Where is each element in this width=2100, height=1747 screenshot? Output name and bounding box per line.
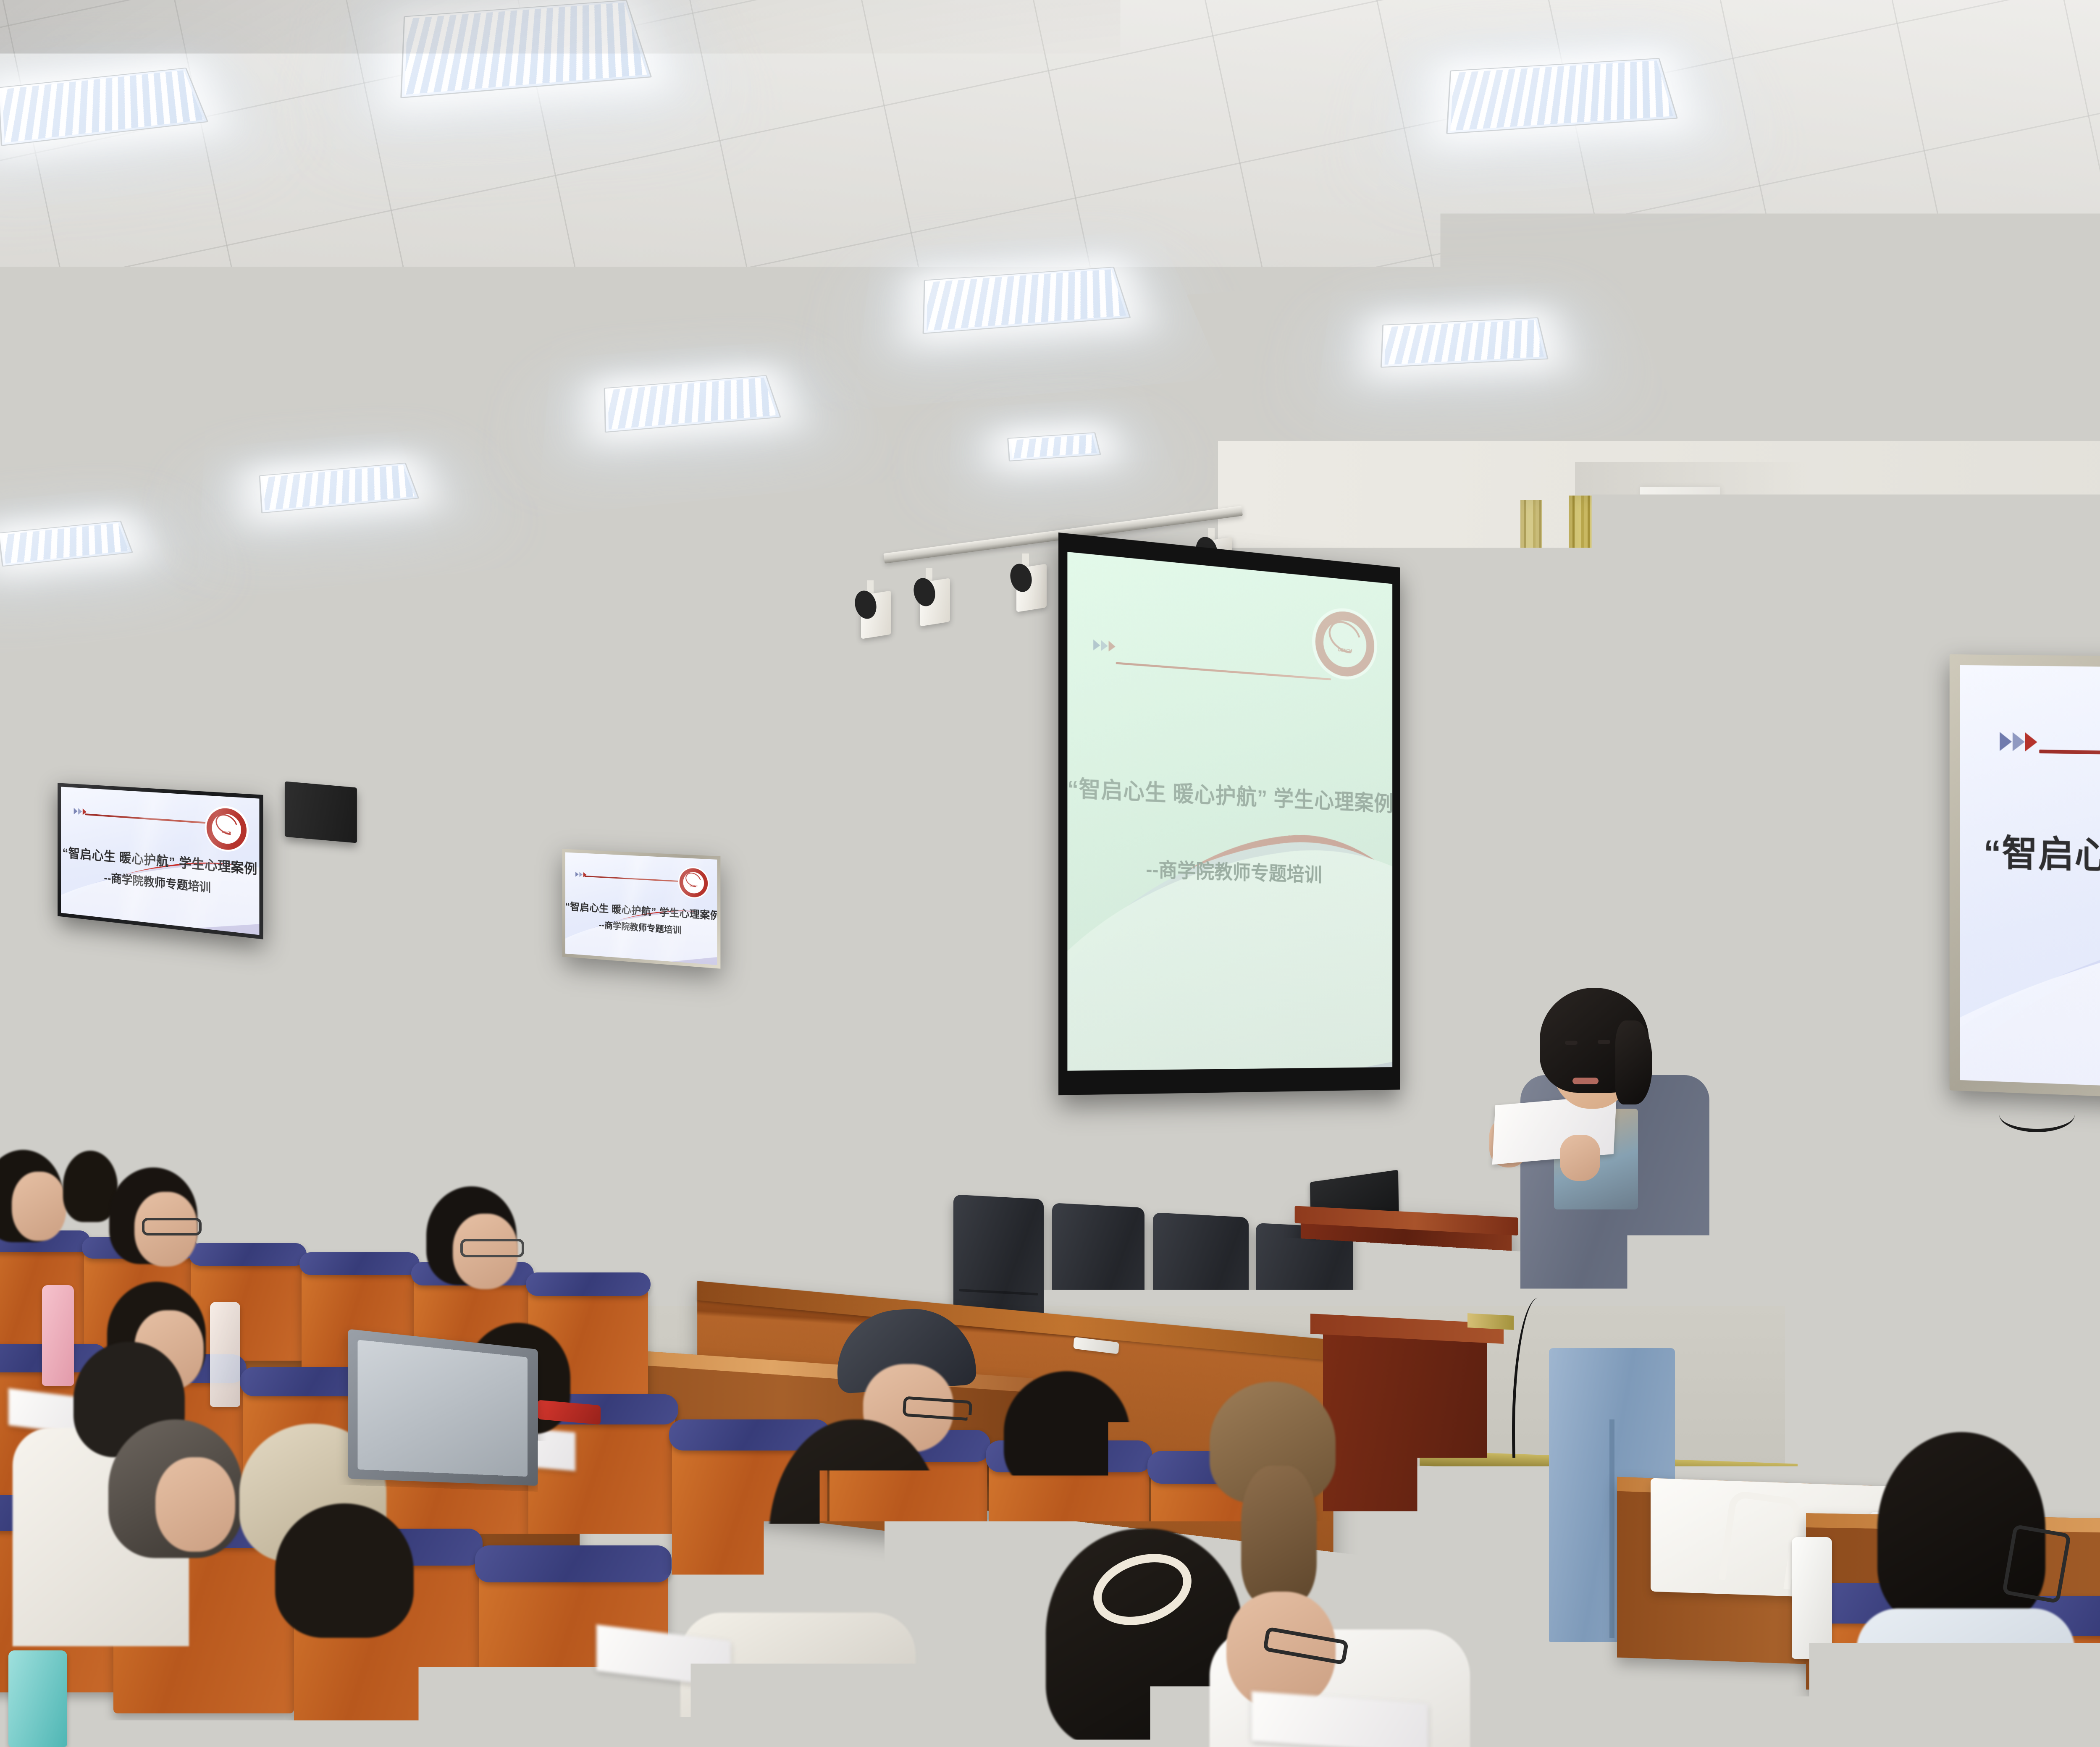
slide-content-left-tv: GENCH “智启心生 暖心护航” 学生心理案例 --商学院教师专题培训 bbox=[61, 787, 259, 935]
person-face bbox=[12, 1172, 66, 1241]
ceiling-light-panel bbox=[1381, 317, 1549, 368]
wall-column bbox=[844, 548, 941, 1338]
left-wall-tv[interactable]: GENCH “智启心生 暖心护航” 学生心理案例 --商学院教师专题培训 bbox=[58, 783, 263, 939]
slide-content-right-tv: GENCH 上海建桥学院 SHANGHAI JIAN QIAO UNIVERSI… bbox=[1960, 665, 2100, 1104]
teal-thermos bbox=[8, 1650, 67, 1747]
tv-cable bbox=[1999, 1097, 2075, 1132]
clear-water-bottle bbox=[210, 1302, 240, 1407]
person-body bbox=[1856, 1608, 2075, 1747]
office-chair[interactable] bbox=[428, 1495, 580, 1676]
presenter-mouth bbox=[1572, 1078, 1599, 1084]
podium-gold-trim bbox=[1467, 1313, 1514, 1330]
presenter-hair-side bbox=[1615, 1020, 1652, 1104]
projection-screen: GENCH “智启心生 暖心护航” 学生心理案例 --商学院教师专题培训 bbox=[1058, 532, 1400, 1095]
projection-surface: GENCH “智启心生 暖心护航” 学生心理案例 --商学院教师专题培训 bbox=[1067, 552, 1392, 1071]
tote-handle bbox=[1719, 1490, 1803, 1590]
presenter-jeans-split bbox=[1609, 1419, 1614, 1638]
eyeglasses bbox=[460, 1239, 524, 1257]
green-bottle bbox=[234, 1121, 250, 1168]
thermos-cap bbox=[422, 1373, 470, 1399]
person-ponytail bbox=[1241, 1466, 1317, 1604]
pink-thermos bbox=[42, 1285, 74, 1386]
person-face bbox=[155, 1457, 235, 1552]
lecture-hall-photo: GENCH “智启心生 暖心护航” 学生心理案例 --商学院教师专题培训 禁烟 bbox=[0, 0, 2100, 1747]
podium-base bbox=[1323, 1323, 1487, 1566]
eyeglasses bbox=[142, 1218, 202, 1235]
person-head bbox=[275, 1503, 414, 1638]
presenter-hand bbox=[1560, 1135, 1600, 1181]
center-wall-tv[interactable]: GENCH “智启心生 暖心护航” 学生心理案例 --商学院教师专题培训 bbox=[562, 849, 721, 968]
right-wall-tv[interactable]: GENCH 上海建桥学院 SHANGHAI JIAN QIAO UNIVERSI… bbox=[1950, 654, 2100, 1116]
eyeglasses bbox=[2002, 1524, 2071, 1603]
slide-content-center-tv: GENCH “智启心生 暖心护航” 学生心理案例 --商学院教师专题培训 bbox=[565, 853, 717, 965]
presenter-eye bbox=[1565, 1041, 1578, 1045]
person-head bbox=[466, 1327, 605, 1503]
person-head bbox=[1004, 1371, 1130, 1493]
auditorium-seat[interactable] bbox=[191, 1243, 304, 1361]
gold-striped-pilaster bbox=[780, 559, 843, 1327]
presenter-eye bbox=[1598, 1040, 1610, 1044]
white-water-bottle bbox=[1792, 1537, 1832, 1659]
wall-speaker bbox=[285, 781, 357, 843]
